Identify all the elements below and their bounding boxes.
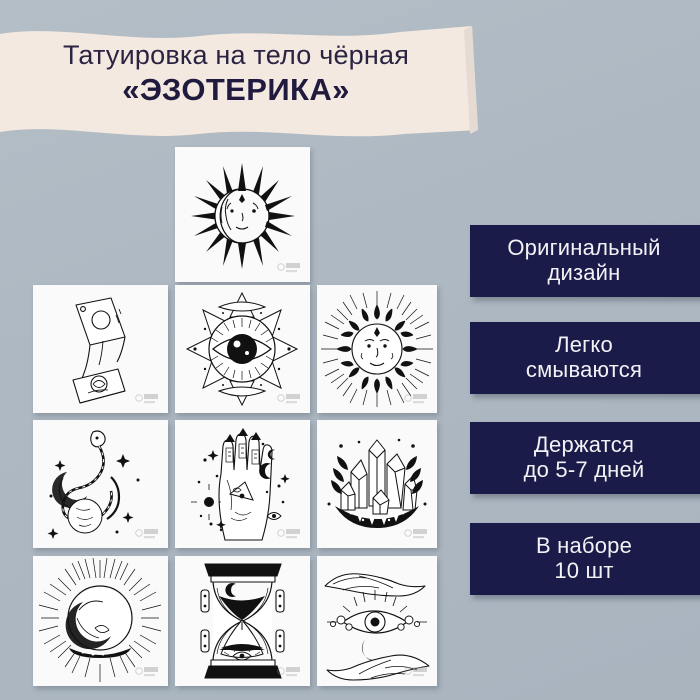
feature-badge-original-design[interactable]: Оригинальный дизайн: [470, 225, 700, 297]
feature-badge-label: Держатся до 5-7 дней: [524, 432, 645, 482]
brand-watermark-icon: [277, 527, 303, 541]
page-title-line-1: Татуировка на тело чёрная: [0, 40, 472, 70]
brand-watermark-icon: [404, 392, 430, 406]
brand-watermark-icon: [277, 261, 303, 275]
brand-watermark-icon: [277, 392, 303, 406]
tattoo-card-hand-tarot-card[interactable]: [33, 285, 168, 413]
feature-badge-easy-wash-off[interactable]: Легко смываются: [470, 322, 700, 394]
feature-badge-lasts-5-7-days[interactable]: Держатся до 5-7 дней: [470, 422, 700, 494]
feature-badge-label: Легко смываются: [526, 332, 642, 382]
brand-watermark-icon: [135, 665, 161, 679]
tattoo-card-hands-eye-moon[interactable]: [317, 556, 437, 686]
product-image-canvas: Татуировка на тело чёрная «ЭЗОТЕРИКА»: [0, 0, 700, 700]
feature-badge-label: В наборе 10 шт: [536, 533, 632, 583]
feature-badge-set-of-10[interactable]: В наборе 10 шт: [470, 523, 700, 595]
tattoo-card-crystals[interactable]: [317, 420, 437, 548]
brand-watermark-icon: [404, 527, 430, 541]
tattoo-card-snake-moon[interactable]: [33, 420, 168, 548]
feature-badge-label: Оригинальный дизайн: [507, 235, 660, 285]
tattoo-card-sun-moon-faces[interactable]: [175, 147, 310, 282]
header-text-group: Татуировка на тело чёрная «ЭЗОТЕРИКА»: [0, 40, 484, 109]
header-banner: Татуировка на тело чёрная «ЭЗОТЕРИКА»: [0, 22, 484, 140]
tattoo-card-sun-face[interactable]: [317, 285, 437, 413]
page-title-line-2: «ЭЗОТЕРИКА»: [0, 72, 472, 109]
tattoo-card-all-seeing-eye[interactable]: [175, 285, 310, 413]
brand-watermark-icon: [404, 665, 430, 679]
tattoo-card-hourglass[interactable]: [175, 556, 310, 686]
tattoo-card-crystal-ball[interactable]: [33, 556, 168, 686]
brand-watermark-icon: [277, 665, 303, 679]
tattoo-card-palmistry-hand[interactable]: [175, 420, 310, 548]
brand-watermark-icon: [135, 392, 161, 406]
brand-watermark-icon: [135, 527, 161, 541]
